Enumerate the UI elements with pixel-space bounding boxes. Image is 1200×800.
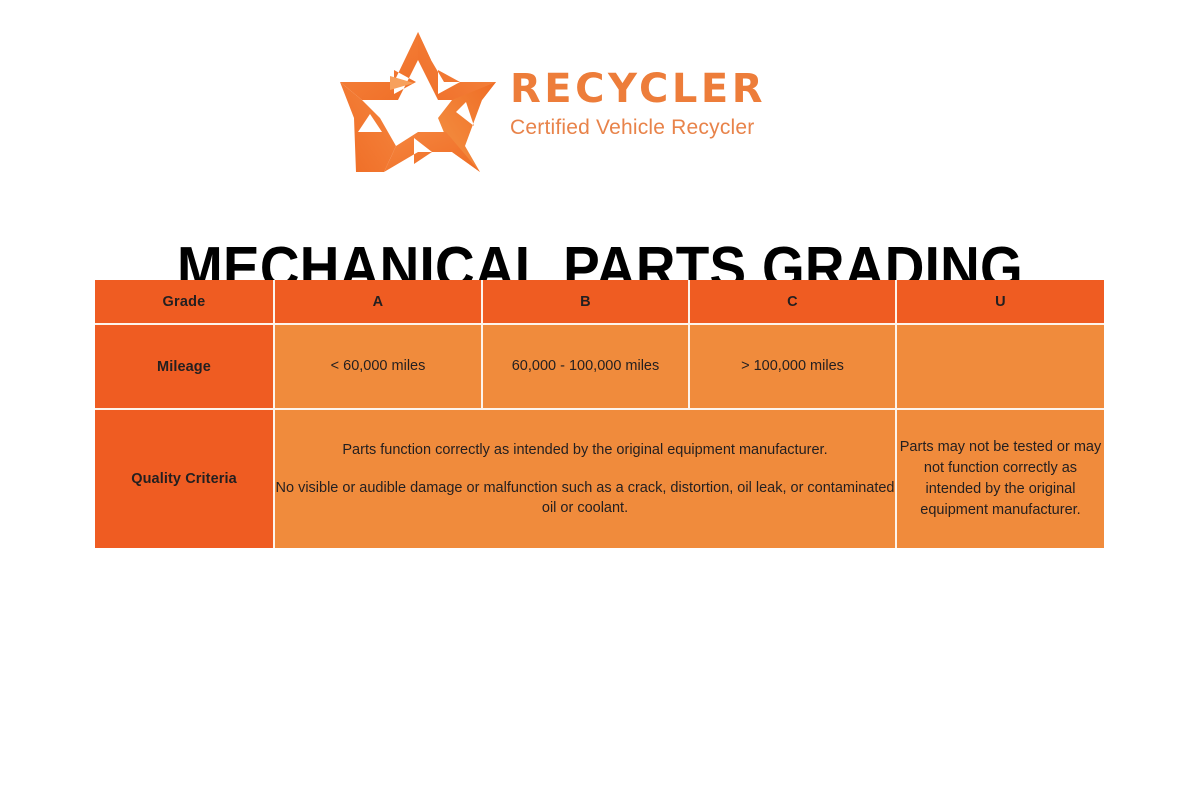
cell-quality-criteria-abc: Parts function correctly as intended by … (275, 410, 897, 548)
header-cell-grade: Grade (95, 280, 275, 325)
brand-logo-block: RECYCLER Certified Vehicle Recycler (0, 26, 1200, 178)
table-row-quality-criteria: Quality Criteria Parts function correctl… (95, 410, 1104, 548)
quality-criteria-paragraph-2: No visible or audible damage or malfunct… (275, 478, 895, 518)
recycling-star-logo-icon (334, 26, 502, 178)
cell-mileage-a: < 60,000 miles (275, 325, 483, 410)
table-header: Grade A B C U (95, 280, 1104, 325)
cell-quality-criteria-u: Parts may not be tested or may not funct… (897, 410, 1104, 548)
row-label-mileage: Mileage (95, 325, 275, 410)
header-cell-a: A (275, 280, 483, 325)
mechanical-parts-grading-table: Grade A B C U Mileage < 60,000 miles 60,… (95, 280, 1104, 548)
quality-criteria-paragraph-1: Parts function correctly as intended by … (275, 440, 895, 460)
cell-mileage-u (897, 325, 1104, 410)
brand-tagline: Certified Vehicle Recycler (510, 114, 766, 141)
table-body: Mileage < 60,000 miles 60,000 - 100,000 … (95, 325, 1104, 548)
table-row-mileage: Mileage < 60,000 miles 60,000 - 100,000 … (95, 325, 1104, 410)
cell-mileage-b: 60,000 - 100,000 miles (483, 325, 690, 410)
logo-inner: RECYCLER Certified Vehicle Recycler (334, 26, 766, 178)
row-label-quality-criteria: Quality Criteria (95, 410, 275, 548)
header-cell-c: C (690, 280, 897, 325)
brand-name: RECYCLER (510, 68, 766, 110)
logo-wordmark: RECYCLER Certified Vehicle Recycler (510, 62, 766, 141)
header-cell-u: U (897, 280, 1104, 325)
header-cell-b: B (483, 280, 690, 325)
table-header-row: Grade A B C U (95, 280, 1104, 325)
cell-mileage-c: > 100,000 miles (690, 325, 897, 410)
